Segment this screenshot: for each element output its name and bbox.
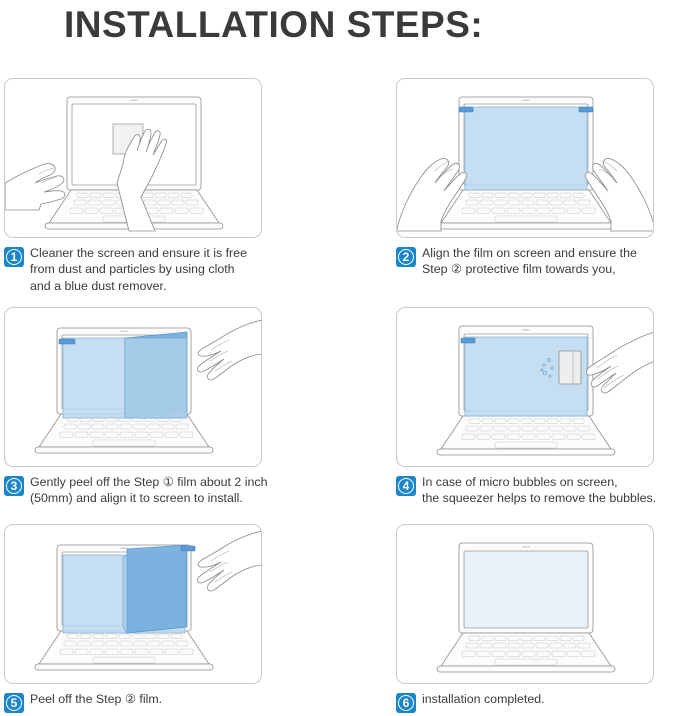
step-4-number: 4	[398, 478, 414, 494]
step-1-number: 1	[6, 249, 22, 265]
step-5-caption: 5 Peel off the Step ② film.	[4, 691, 292, 713]
page-title: INSTALLATION STEPS:	[64, 4, 483, 46]
step-1-illustration-panel	[4, 78, 262, 238]
step-3-text: Gently peel off the Step ① film about 2 …	[30, 474, 292, 507]
step-3-number: 3	[6, 478, 22, 494]
step-6-illustration-panel	[396, 524, 654, 684]
step-6-number: 6	[398, 695, 414, 711]
step-3-caption: 3 Gently peel off the Step ① film about …	[4, 474, 292, 507]
step-4-badge: 4	[396, 476, 416, 496]
step-card-5: 5 Peel off the Step ② film.	[4, 524, 292, 713]
step-card-1: 1 Cleaner the screen and ensure it is fr…	[4, 78, 292, 294]
step-2-text: Align the film on screen and ensure the …	[422, 245, 679, 278]
laptop-hand-peeling-step1-film-from-right-art	[5, 308, 262, 467]
step-3-badge: 3	[4, 476, 24, 496]
step-2-number: 2	[398, 249, 414, 265]
laptop-clean-installed-screen-art	[397, 525, 654, 684]
step-3-illustration-panel	[4, 307, 262, 467]
step-2-caption: 2 Align the film on screen and ensure th…	[396, 245, 679, 278]
step-card-4: 4 In case of micro bubbles on screen, th…	[396, 307, 679, 507]
step-card-2: 2 Align the film on screen and ensure th…	[396, 78, 679, 278]
step-5-number: 5	[6, 695, 22, 711]
step-1-badge: 1	[4, 247, 24, 267]
step-1-caption: 1 Cleaner the screen and ensure it is fr…	[4, 245, 292, 294]
step-4-illustration-panel	[396, 307, 654, 467]
steps-grid: 1 Cleaner the screen and ensure it is fr…	[0, 78, 679, 716]
laptop-hand-peeling-step2-film-art	[5, 525, 262, 684]
step-4-caption: 4 In case of micro bubbles on screen, th…	[396, 474, 679, 507]
step-2-illustration-panel	[396, 78, 654, 238]
laptop-blue-film-aligned-two-hands-art	[397, 79, 654, 238]
laptop-hand-cleaning-screen-with-cloth-art	[5, 79, 262, 238]
step-6-caption: 6 installation completed.	[396, 691, 679, 713]
step-5-text: Peel off the Step ② film.	[30, 691, 162, 707]
step-5-illustration-panel	[4, 524, 262, 684]
step-6-badge: 6	[396, 693, 416, 713]
step-5-badge: 5	[4, 693, 24, 713]
installation-steps-infographic: INSTALLATION STEPS:	[0, 0, 679, 716]
step-6-text: installation completed.	[422, 691, 545, 707]
step-card-6: 6 installation completed.	[396, 524, 679, 713]
step-card-3: 3 Gently peel off the Step ① film about …	[4, 307, 292, 507]
step-4-text: In case of micro bubbles on screen, the …	[422, 474, 679, 507]
step-1-text: Cleaner the screen and ensure it is free…	[30, 245, 292, 294]
laptop-hand-with-squeegee-removing-bubbles-art	[397, 308, 654, 467]
step-2-badge: 2	[396, 247, 416, 267]
